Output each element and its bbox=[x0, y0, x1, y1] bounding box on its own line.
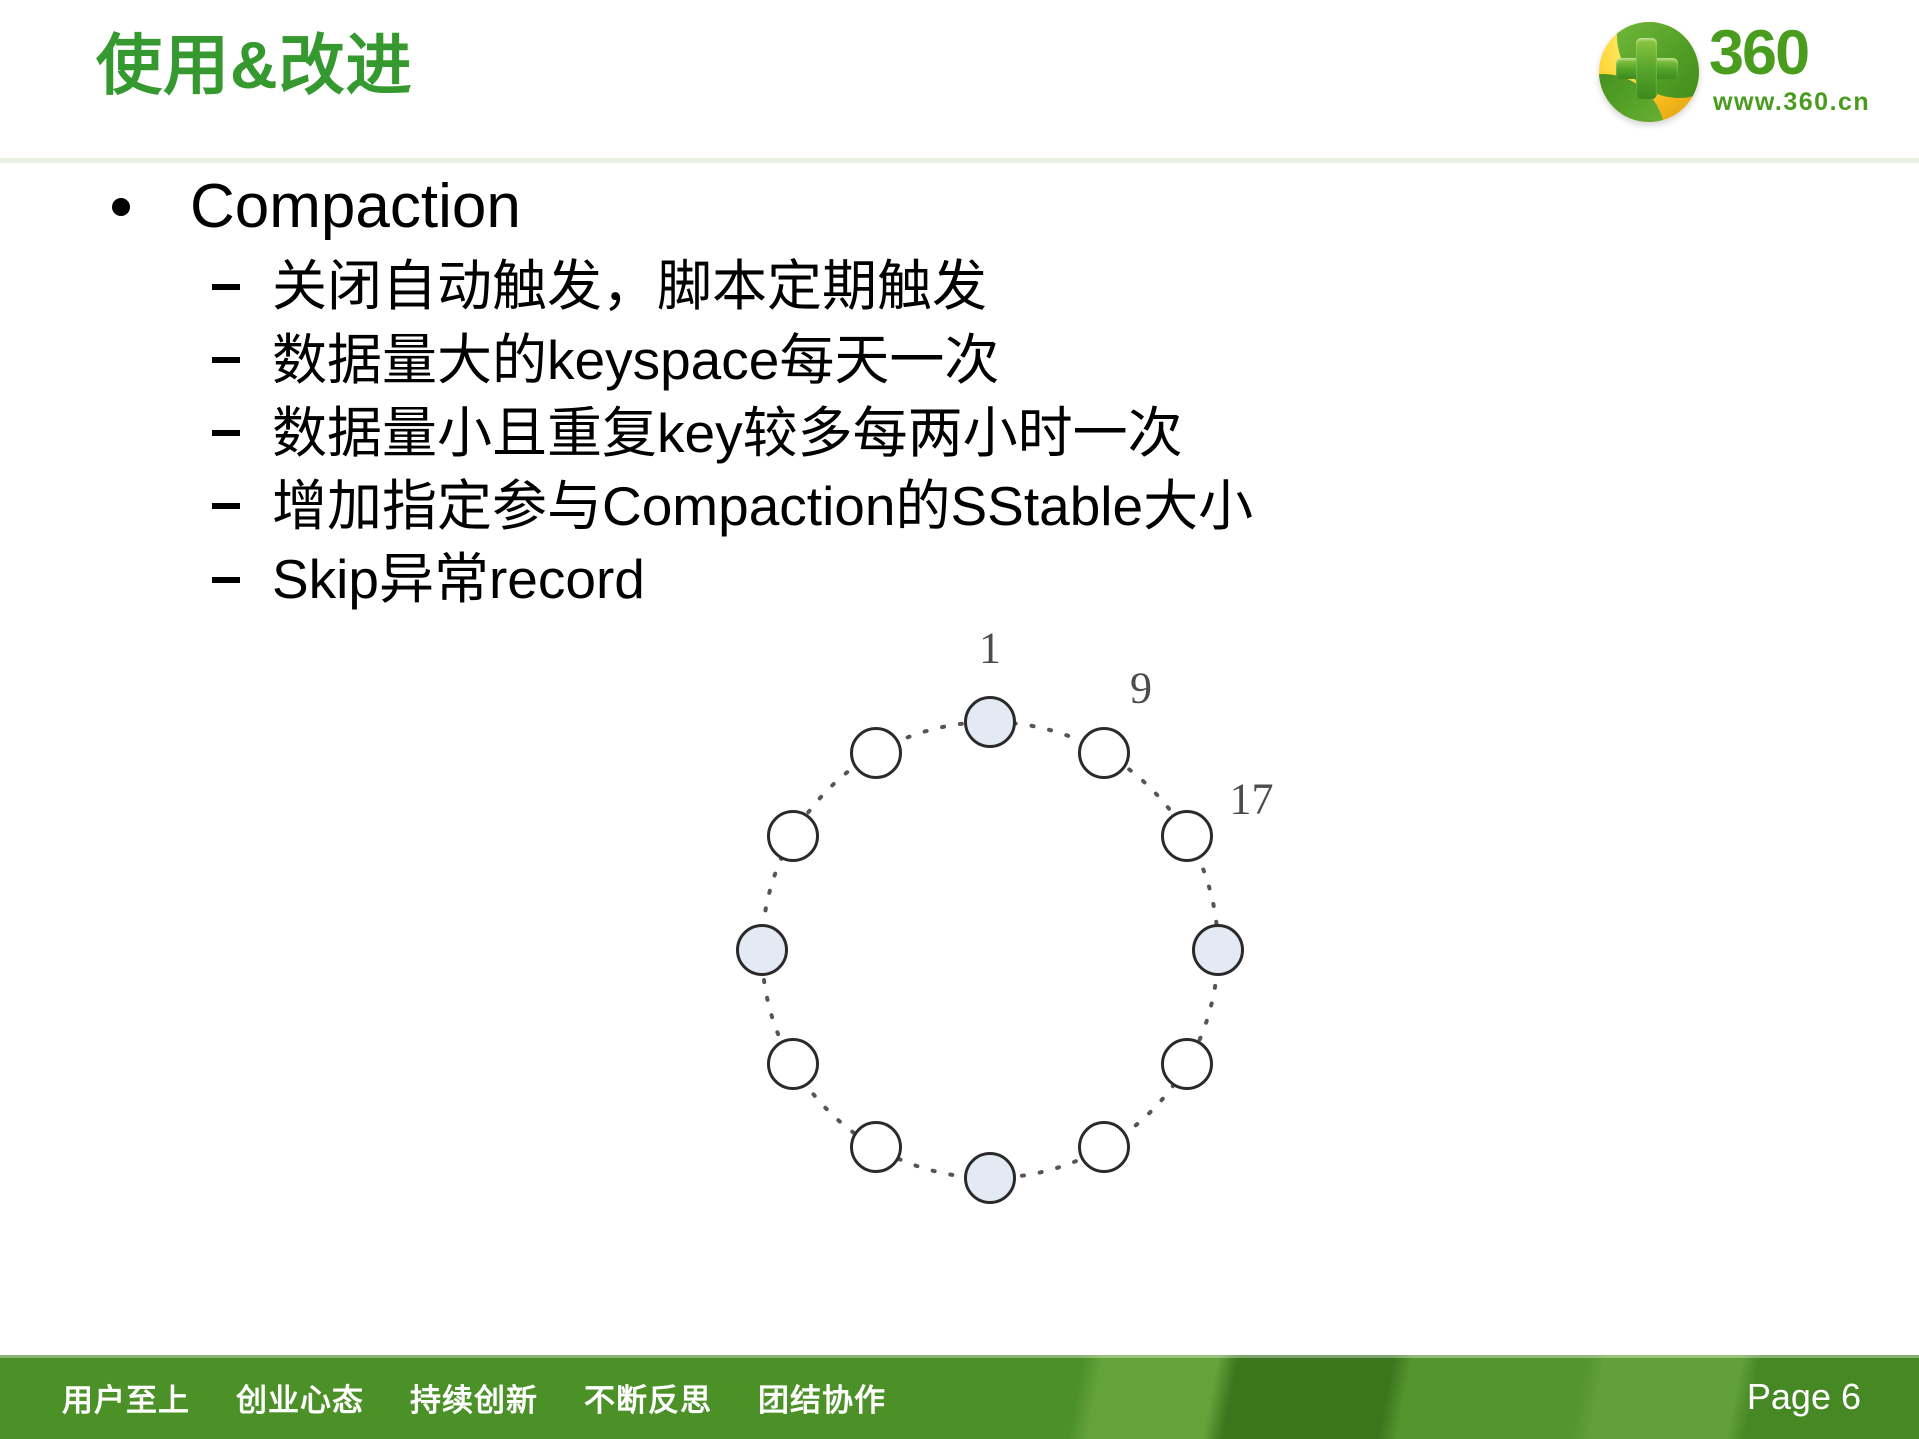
bullet-dash-icon bbox=[212, 357, 240, 363]
ring-node-label-1: 1 bbox=[979, 623, 1001, 674]
footer-slogan-1: 创业心态 bbox=[236, 1375, 364, 1420]
brand-logo: 360 www.360.cn bbox=[1597, 18, 1897, 126]
ring-node-3 bbox=[1192, 924, 1244, 976]
ring-node-8 bbox=[767, 1038, 819, 1090]
header-divider bbox=[0, 158, 1919, 163]
bullet-level1: Compaction bbox=[0, 170, 1919, 244]
ring-node-label-9: 9 bbox=[1130, 663, 1152, 714]
ring-node-9 bbox=[736, 924, 788, 976]
bullet-level2: 数据量大的keyspace每天一次 bbox=[0, 324, 1919, 397]
ring-dotted-circle bbox=[730, 690, 1250, 1210]
slide: 使用&改进 360 www.360.cn Compaction 关闭自动触发，脚… bbox=[0, 0, 1919, 1439]
bullet-text: 增加指定参与Compaction的SStable大小 bbox=[272, 475, 1253, 537]
slide-footer: 用户至上创业心态持续创新不断反思团结协作 Page 6 bbox=[0, 1355, 1919, 1439]
bullet-level2: 增加指定参与Compaction的SStable大小 bbox=[0, 470, 1919, 543]
consistent-hash-ring-diagram: 1917 bbox=[730, 690, 1250, 1210]
footer-slogan-0: 用户至上 bbox=[62, 1375, 190, 1420]
footer-slogan-3: 不断反思 bbox=[584, 1375, 712, 1420]
footer-slogan-2: 持续创新 bbox=[410, 1375, 538, 1420]
ring-node-2 bbox=[1161, 810, 1213, 862]
bullet-text: Compaction bbox=[190, 172, 521, 241]
ring-node-7 bbox=[850, 1121, 902, 1173]
bullet-dash-icon bbox=[212, 284, 240, 290]
ring-node-5 bbox=[1078, 1121, 1130, 1173]
logo-url-text: www.360.cn bbox=[1713, 90, 1870, 115]
page-number: Page 6 bbox=[1747, 1355, 1861, 1439]
bullet-level2: 关闭自动触发，脚本定期触发 bbox=[0, 250, 1919, 323]
bullet-text: 关闭自动触发，脚本定期触发 bbox=[272, 255, 987, 317]
bullet-level2: Skip异常record bbox=[0, 543, 1919, 616]
ring-node-6 bbox=[964, 1152, 1016, 1204]
bullet-dot-icon bbox=[112, 198, 130, 216]
ring-node-4 bbox=[1161, 1038, 1213, 1090]
bullet-dash-icon bbox=[212, 430, 240, 436]
plus-glyph-icon bbox=[1597, 18, 1697, 118]
ring-node-label-17: 17 bbox=[1230, 774, 1274, 825]
ring-node-11 bbox=[850, 727, 902, 779]
ring-node-0 bbox=[964, 696, 1016, 748]
ring-node-1 bbox=[1078, 727, 1130, 779]
bullet-text: Skip异常record bbox=[272, 548, 645, 610]
bullet-level2: 数据量小且重复key较多每两小时一次 bbox=[0, 397, 1919, 470]
bullet-text: 数据量小且重复key较多每两小时一次 bbox=[272, 402, 1183, 464]
bullet-dash-icon bbox=[212, 577, 240, 583]
bullet-dash-icon bbox=[212, 503, 240, 509]
footer-slogan-list: 用户至上创业心态持续创新不断反思团结协作 bbox=[62, 1355, 886, 1439]
logo-wordmark: 360 bbox=[1709, 22, 1808, 85]
footer-slogan-4: 团结协作 bbox=[758, 1375, 886, 1420]
bullet-text: 数据量大的keyspace每天一次 bbox=[272, 329, 999, 391]
page-title: 使用&改进 bbox=[96, 28, 413, 104]
slide-header: 使用&改进 360 www.360.cn bbox=[0, 0, 1919, 162]
ring-node-10 bbox=[767, 810, 819, 862]
